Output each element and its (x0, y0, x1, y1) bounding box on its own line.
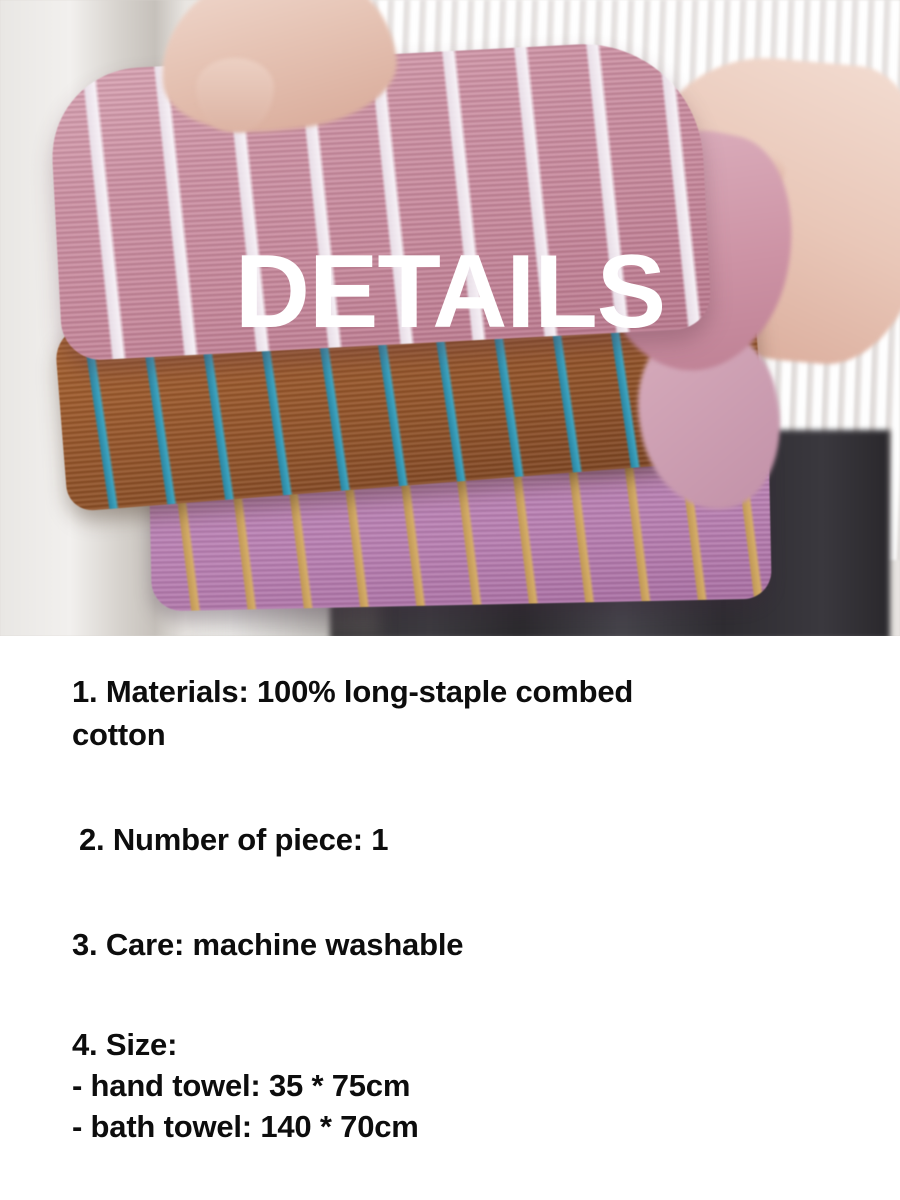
detail-care: 3. Care: machine washable (72, 923, 840, 966)
spacer-3 (72, 966, 840, 1024)
detail-size-bath-towel: - bath towel: 140 * 70cm (72, 1106, 840, 1147)
detail-size: 4. Size: - hand towel: 35 * 75cm - bath … (72, 1024, 840, 1147)
detail-materials-line-1: 1. Materials: 100% long-staple combed (72, 670, 840, 713)
page-title: DETAILS (0, 240, 900, 344)
detail-materials-line-2: cotton (72, 713, 840, 756)
product-details-panel: 1. Materials: 100% long-staple combed co… (0, 636, 900, 1200)
spacer-1 (72, 756, 840, 818)
spacer-2 (72, 861, 840, 923)
product-detail-page: DETAILS 1. Materials: 100% long-staple c… (0, 0, 900, 1200)
detail-size-hand-towel: - hand towel: 35 * 75cm (72, 1065, 840, 1106)
hero-product-photo: DETAILS (0, 0, 900, 636)
detail-size-header: 4. Size: (72, 1024, 840, 1065)
detail-materials: 1. Materials: 100% long-staple combed co… (72, 670, 840, 756)
detail-number-of-piece: 2. Number of piece: 1 (72, 818, 840, 861)
